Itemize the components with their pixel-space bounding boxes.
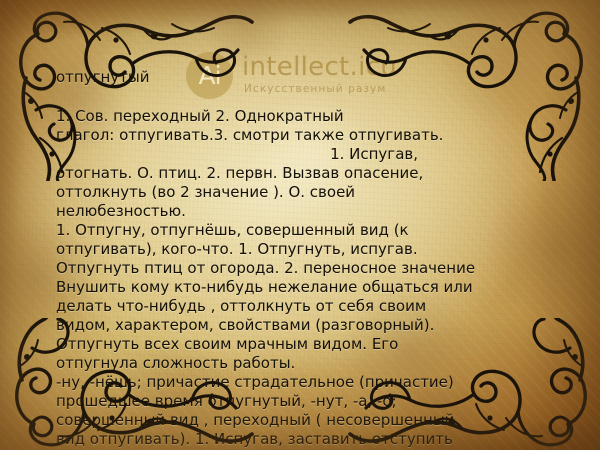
entry-line: прошедшее время отпугнутый, -нут, -а, -о… (56, 392, 556, 411)
entry-line: видом, характером, свойствами (разговорн… (56, 316, 556, 335)
entry-line: Отпугнуть птиц от огорода. 2. переносное… (56, 259, 556, 278)
entry-line: совершенный вид , переходный ( несоверше… (56, 411, 556, 430)
entry-line: отпугнула сложность работы. (56, 354, 556, 373)
entry-line: 1. Отпугну, отпугнёшь, совершенный вид (… (56, 221, 556, 240)
entry-line: Отпугнуть всех своим мрачным видом. Его (56, 335, 556, 354)
entry-line: 1. Сов. переходный 2. Однократный (56, 107, 556, 126)
entry-line: отпугивать), кого-что. 1. Отпугнуть, исп… (56, 240, 556, 259)
entry-line: отогнать. О. птиц. 2. первн. Вызвав опас… (56, 164, 556, 183)
entry-line: глагол: отпугивать.3. смотри также отпуг… (56, 126, 556, 145)
entry-line: -ну, -нёшь; причастие страдательное (при… (56, 373, 556, 392)
entry-line: делать что-нибудь , оттолкнуть от себя с… (56, 297, 556, 316)
dictionary-entry: отпугнутый 1. Сов. переходный 2. Однокра… (56, 68, 556, 449)
parchment-page: отпугнутый 1. Сов. переходный 2. Однокра… (0, 0, 600, 450)
entry-line: Внушить кому кто-нибудь нежелание общать… (56, 278, 556, 297)
entry-line: нелюбезностью. (56, 202, 556, 221)
entry-line: 1. Испугав, (56, 145, 556, 164)
entry-line: вид отпугивать). 1. Испугав, заставить о… (56, 430, 556, 449)
entry-line: оттолкнуть (во 2 значение ). О. своей (56, 183, 556, 202)
headword: отпугнутый (56, 68, 556, 87)
